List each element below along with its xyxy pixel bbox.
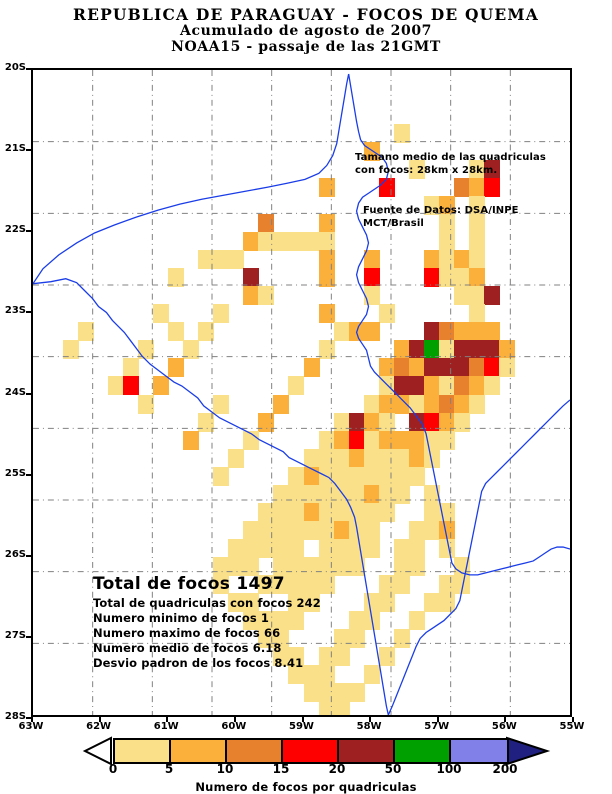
y-axis-tick-mark bbox=[26, 68, 31, 70]
stat-mean-focos: Numero medio de focos 6.18 bbox=[93, 641, 321, 656]
x-axis-tick-label: 61W bbox=[151, 721, 181, 732]
x-axis-tick-mark bbox=[437, 717, 439, 722]
y-axis-tick-label: 26S bbox=[0, 549, 26, 560]
y-axis-tick-label: 22S bbox=[0, 224, 26, 235]
colorbar-segment bbox=[227, 740, 283, 762]
chart-title-block: REPUBLICA DE PARAGUAY - FOCOS DE QUEMA A… bbox=[0, 6, 612, 55]
subtitle-period: Acumulado de agosto de 2007 bbox=[0, 23, 612, 39]
x-axis-tick-mark bbox=[302, 717, 304, 722]
annotation-source-line1: Fuente de Datos: DSA/INPE bbox=[363, 205, 519, 218]
colorbar-tick-label: 50 bbox=[375, 762, 411, 776]
colorbar-segment bbox=[115, 740, 171, 762]
stat-total-focos: Total de focos 1497 bbox=[93, 574, 321, 595]
colorbar-tick-label: 20 bbox=[319, 762, 355, 776]
colorbar-tick-label: 15 bbox=[263, 762, 299, 776]
y-axis-tick-label: 27S bbox=[0, 630, 26, 641]
y-axis-tick-mark bbox=[26, 555, 31, 557]
stat-max-focos: Numero maximo de focos 66 bbox=[93, 626, 321, 641]
y-axis-tick-label: 21S bbox=[0, 143, 26, 154]
map-plot-area: Tamano medio de las quadriculas con foco… bbox=[31, 68, 572, 717]
colorbar-tick-label: 200 bbox=[487, 762, 523, 776]
x-axis-tick-label: 58W bbox=[354, 721, 384, 732]
y-axis-tick-mark bbox=[26, 393, 31, 395]
colorbar-segment bbox=[339, 740, 395, 762]
colorbar-segment bbox=[283, 740, 339, 762]
stat-std-focos: Desvio padron de los focos 8.41 bbox=[93, 656, 321, 671]
x-axis-tick-mark bbox=[504, 717, 506, 722]
x-axis-tick-label: 60W bbox=[219, 721, 249, 732]
stat-min-focos: Numero minimo de focos 1 bbox=[93, 611, 321, 626]
statistics-block: Total de focos 1497 Total de quadriculas… bbox=[93, 574, 321, 671]
y-axis-tick-mark bbox=[26, 230, 31, 232]
annotation-source-line2: MCT/Brasil bbox=[363, 218, 519, 231]
annotation-grid-size: Tamano medio de las quadriculas con foco… bbox=[355, 152, 546, 177]
colorbar-segment bbox=[451, 740, 507, 762]
x-axis-tick-mark bbox=[99, 717, 101, 722]
y-axis-tick-mark bbox=[26, 636, 31, 638]
x-axis-tick-label: 63W bbox=[16, 721, 46, 732]
y-axis-tick-label: 24S bbox=[0, 387, 26, 398]
colorbar-segments bbox=[113, 738, 509, 764]
annotation-grid-size-line2: con focos: 28km x 28km. bbox=[355, 165, 546, 178]
x-axis-tick-mark bbox=[31, 717, 33, 722]
y-axis-tick-mark bbox=[26, 311, 31, 313]
annotation-grid-size-line1: Tamano medio de las quadriculas bbox=[355, 152, 546, 165]
colorbar-tick-label: 0 bbox=[95, 762, 131, 776]
x-axis-tick-label: 56W bbox=[489, 721, 519, 732]
x-axis-tick-label: 57W bbox=[422, 721, 452, 732]
colorbar: 0510152050100200 Numero de focos por qua… bbox=[0, 732, 612, 792]
colorbar-segment bbox=[171, 740, 227, 762]
y-axis-tick-label: 20S bbox=[0, 62, 26, 73]
stat-total-quadriculas: Total de quadriculas con focos 242 bbox=[93, 596, 321, 611]
colorbar-high-arrow bbox=[507, 738, 547, 764]
x-axis-tick-mark bbox=[234, 717, 236, 722]
x-axis-tick-label: 62W bbox=[84, 721, 114, 732]
colorbar-low-arrow bbox=[85, 738, 111, 764]
annotation-data-source: Fuente de Datos: DSA/INPE MCT/Brasil bbox=[363, 205, 519, 230]
page-title: REPUBLICA DE PARAGUAY - FOCOS DE QUEMA bbox=[0, 6, 612, 23]
x-axis-tick-mark bbox=[572, 717, 574, 722]
y-axis-tick-label: 25S bbox=[0, 468, 26, 479]
colorbar-tick-label: 100 bbox=[431, 762, 467, 776]
x-axis-tick-mark bbox=[369, 717, 371, 722]
y-axis-tick-mark bbox=[26, 474, 31, 476]
x-axis-tick-label: 59W bbox=[287, 721, 317, 732]
colorbar-tick-label: 5 bbox=[151, 762, 187, 776]
x-axis-tick-label: 55W bbox=[557, 721, 587, 732]
y-axis-tick-mark bbox=[26, 149, 31, 151]
x-axis-tick-mark bbox=[166, 717, 168, 722]
colorbar-segment bbox=[395, 740, 451, 762]
subtitle-satellite: NOAA15 - passaje de las 21GMT bbox=[0, 39, 612, 55]
y-axis-tick-label: 23S bbox=[0, 305, 26, 316]
colorbar-tick-label: 10 bbox=[207, 762, 243, 776]
